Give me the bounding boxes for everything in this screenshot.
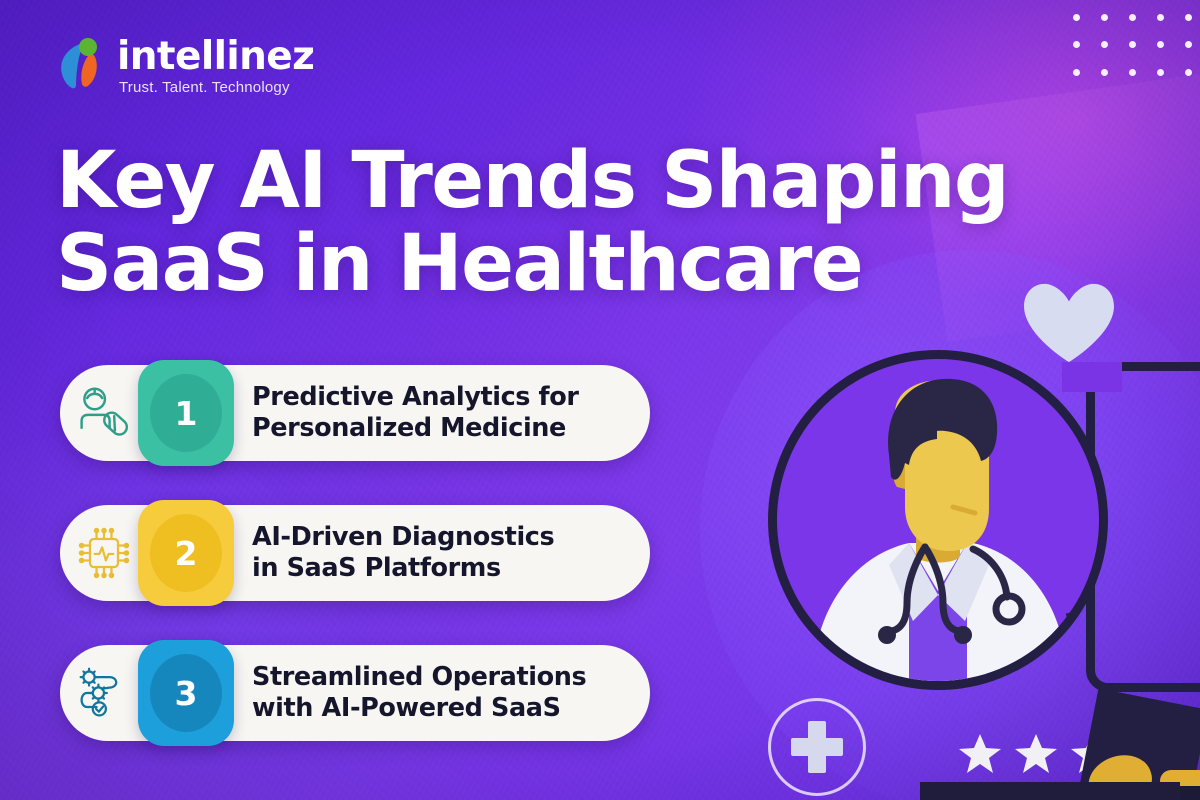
- infographic-canvas: intellinez Trust. Talent. Technology Key…: [0, 0, 1200, 800]
- medical-cross-icon: [768, 698, 866, 796]
- grid-dot: [1157, 14, 1164, 21]
- list-item-label-line-1: Predictive Analytics for: [252, 382, 624, 413]
- list-item[interactable]: 2 AI-Driven Diagnostics in SaaS Platform…: [60, 505, 650, 601]
- brand-name: intellinez: [117, 37, 314, 76]
- grid-dot: [1157, 69, 1164, 76]
- grid-dot: [1129, 14, 1136, 21]
- illustration-cluster: [690, 300, 1200, 800]
- star-icon: [1014, 732, 1058, 779]
- list-item-number: 1: [175, 397, 198, 430]
- grid-dot: [1073, 14, 1080, 21]
- doctor-avatar-illustration: [768, 350, 1108, 690]
- list-item-label-line-1: Streamlined Operations: [252, 662, 624, 693]
- brand-logo[interactable]: intellinez Trust. Talent. Technology: [56, 34, 314, 96]
- grid-dot: [1185, 41, 1192, 48]
- cross-glyph: [791, 721, 843, 773]
- list-item-label: AI-Driven Diagnostics in SaaS Platforms: [252, 522, 650, 583]
- list-item-label: Streamlined Operations with AI-Powered S…: [252, 662, 650, 723]
- heart-icon: [1020, 278, 1118, 366]
- list-item-number: 3: [175, 677, 198, 710]
- gears-workflow-check-icon: [60, 645, 138, 741]
- list-item-label-line-2: with AI-Powered SaaS: [252, 693, 624, 724]
- dot-grid-pattern: [1062, 4, 1200, 86]
- list-item-badge: 2: [138, 500, 234, 606]
- microchip-ecg-icon: [60, 505, 138, 601]
- list-item[interactable]: 1 Predictive Analytics for Personalized …: [60, 365, 650, 461]
- list-item-label-line-2: Personalized Medicine: [252, 413, 624, 444]
- grid-dot: [1185, 69, 1192, 76]
- grid-dot: [1073, 41, 1080, 48]
- page-title-line-2: SaaS in Healthcare: [56, 223, 1036, 306]
- grid-dot: [1157, 41, 1164, 48]
- trend-list: 1 Predictive Analytics for Personalized …: [60, 365, 650, 785]
- grid-dot: [1073, 69, 1080, 76]
- grid-dot: [1101, 69, 1108, 76]
- list-item-label-line-1: AI-Driven Diagnostics: [252, 522, 624, 553]
- grid-dot: [1101, 14, 1108, 21]
- star-icon: [958, 732, 1002, 779]
- list-item-label-line-2: in SaaS Platforms: [252, 553, 624, 584]
- page-title: Key AI Trends Shaping SaaS in Healthcare: [56, 140, 1036, 305]
- list-item-number: 2: [175, 537, 198, 570]
- grid-dot: [1101, 41, 1108, 48]
- intellinez-leaf-mark-icon: [56, 34, 108, 96]
- grid-dot: [1129, 69, 1136, 76]
- foreground-dark-strip: [920, 782, 1180, 800]
- list-item[interactable]: 3 Streamlined Operations with AI-Powered…: [60, 645, 650, 741]
- brand-tagline: Trust. Talent. Technology: [119, 80, 314, 95]
- grid-dot: [1185, 14, 1192, 21]
- page-title-line-1: Key AI Trends Shaping: [56, 136, 1008, 226]
- list-item-badge: 1: [138, 360, 234, 466]
- list-item-badge: 3: [138, 640, 234, 746]
- patient-pill-icon: [60, 365, 138, 461]
- frame-notch: [1062, 362, 1122, 392]
- grid-dot: [1129, 41, 1136, 48]
- list-item-label: Predictive Analytics for Personalized Me…: [252, 382, 650, 443]
